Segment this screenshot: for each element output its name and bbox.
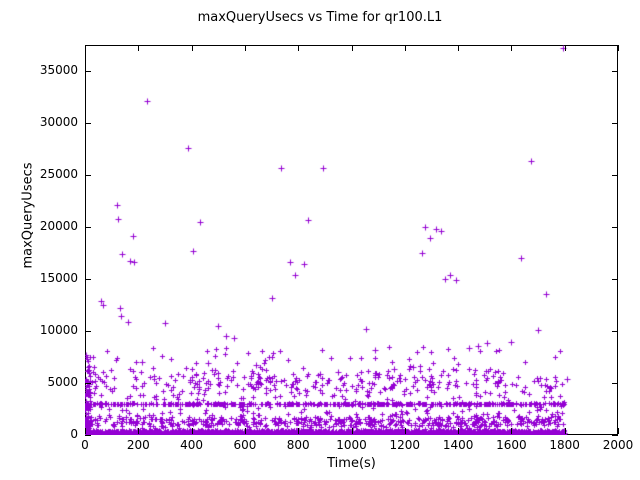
x-axis-tick-label: 1800: [535, 438, 595, 452]
y-axis-tick-label: 30000: [8, 115, 78, 129]
chart-title: maxQueryUsecs vs Time for qr100.L1: [0, 10, 640, 25]
x-axis-tick-label: 1600: [481, 438, 541, 452]
x-axis-tick-mark: [352, 428, 353, 434]
x-axis-tick-mark: [458, 45, 459, 51]
y-axis-tick-mark: [85, 279, 91, 280]
y-axis-tick-label: 20000: [8, 219, 78, 233]
x-axis-tick-mark: [298, 428, 299, 434]
x-axis-tick-label: 600: [215, 438, 275, 452]
y-axis-tick-label: 15000: [8, 271, 78, 285]
x-axis-tick-label: 1400: [428, 438, 488, 452]
x-axis-tick-mark: [192, 428, 193, 434]
x-axis-tick-mark: [565, 45, 566, 51]
data-points-layer: [85, 45, 618, 435]
y-axis-tick-mark: [612, 123, 618, 124]
y-axis-tick-mark: [612, 227, 618, 228]
x-axis-tick-mark: [618, 45, 619, 51]
x-axis-tick-mark: [352, 45, 353, 51]
x-axis-tick-mark: [85, 428, 86, 434]
x-axis-tick-mark: [138, 428, 139, 434]
x-axis-tick-mark: [298, 45, 299, 51]
y-axis-tick-mark: [612, 383, 618, 384]
x-axis-tick-mark: [138, 45, 139, 51]
x-axis-tick-mark: [511, 428, 512, 434]
y-axis-tick-label: 5000: [8, 375, 78, 389]
x-axis-tick-mark: [458, 428, 459, 434]
x-axis-tick-mark: [405, 45, 406, 51]
y-axis-tick-mark: [612, 331, 618, 332]
y-axis-tick-mark: [85, 331, 91, 332]
x-axis-tick-label: 400: [162, 438, 222, 452]
x-axis-tick-mark: [618, 428, 619, 434]
x-axis-tick-label: 0: [55, 438, 115, 452]
y-axis-tick-mark: [612, 279, 618, 280]
y-axis-tick-mark: [85, 123, 91, 124]
x-axis-tick-label: 1200: [375, 438, 435, 452]
y-axis-tick-mark: [612, 435, 618, 436]
x-axis-title: Time(s): [85, 456, 618, 471]
x-axis-tick-mark: [245, 428, 246, 434]
y-axis-tick-mark: [85, 383, 91, 384]
y-axis-tick-label: 35000: [8, 63, 78, 77]
y-axis-tick-mark: [85, 71, 91, 72]
x-axis-tick-mark: [245, 45, 246, 51]
x-axis-tick-label: 2000: [588, 438, 640, 452]
x-axis-tick-mark: [565, 428, 566, 434]
y-axis-tick-mark: [85, 227, 91, 228]
x-axis-tick-label: 200: [108, 438, 168, 452]
x-axis-tick-label: 1000: [322, 438, 382, 452]
y-axis-tick-label: 10000: [8, 323, 78, 337]
y-axis-tick-mark: [612, 71, 618, 72]
scatter-plot-figure: maxQueryUsecs vs Time for qr100.L1 ma100…: [0, 0, 640, 480]
x-axis-tick-mark: [85, 45, 86, 51]
y-axis-tick-mark: [85, 435, 91, 436]
y-axis-tick-mark: [612, 175, 618, 176]
x-axis-tick-mark: [192, 45, 193, 51]
x-axis-tick-mark: [405, 428, 406, 434]
x-axis-tick-label: 800: [268, 438, 328, 452]
y-axis-tick-mark: [85, 175, 91, 176]
y-axis-tick-label: 25000: [8, 167, 78, 181]
x-axis-tick-mark: [511, 45, 512, 51]
